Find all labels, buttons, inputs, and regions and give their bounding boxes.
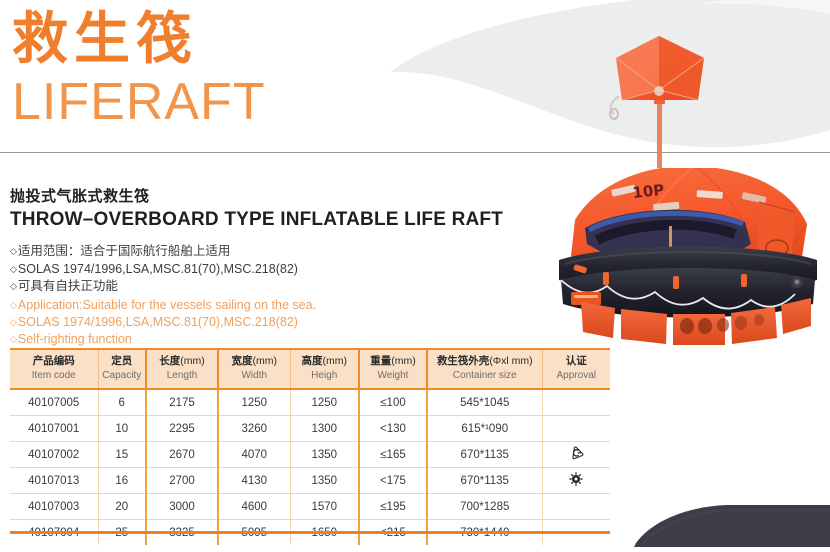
table-row: 40107001 10 2295 3260 1300 <130 615*¹090 <box>10 416 610 442</box>
cell-item-code: 40107001 <box>10 416 98 442</box>
cell-capacity: 20 <box>98 494 146 520</box>
product-heading-cn: 抛投式气胀式救生筏 <box>10 186 530 206</box>
cell-weight: ≤195 <box>359 494 427 520</box>
liferaft-photo: 10P <box>545 168 830 353</box>
table-row: 40107003 20 3000 4600 1570 ≤195 700*1285 <box>10 494 610 520</box>
feature-item: ◇ SOLAS 1974/1996,LSA,MSC.81(70),MSC.218… <box>10 314 550 331</box>
feature-text: Application:Suitable for the vessels sai… <box>18 297 316 313</box>
cell-width: 1250 <box>218 389 290 416</box>
column-header-en: Weight <box>362 369 424 382</box>
table-header-row: 产品编码 Item code 定员 Capacity 长度(mm) Length… <box>10 349 610 389</box>
feature-item: ◇ Self-righting function <box>10 331 550 348</box>
specification-table: 产品编码 Item code 定员 Capacity 长度(mm) Length… <box>10 348 610 545</box>
column-header-approval: 认证 Approval <box>542 349 610 389</box>
column-header-en: Heigh <box>293 369 357 382</box>
cell-approval <box>542 389 610 416</box>
column-header-height: 高度(mm) Heigh <box>290 349 359 389</box>
cell-approval <box>542 494 610 520</box>
cell-length: 2295 <box>146 416 218 442</box>
feature-text: SOLAS 1974/1996,LSA,MSC.81(70),MSC.218(8… <box>18 314 298 330</box>
cell-height: 1350 <box>290 442 359 468</box>
column-header-item-code: 产品编码 Item code <box>10 349 98 389</box>
cell-container-size: 615*¹090 <box>427 416 542 442</box>
column-header-en: Container size <box>430 369 540 382</box>
cert-mark-ccs-icon <box>569 446 584 460</box>
cell-capacity: 16 <box>98 468 146 494</box>
feature-item: ◇ 适用范围：适合于国际航行船舶上适用 <box>10 243 550 261</box>
cell-height: 1570 <box>290 494 359 520</box>
cell-width: 4130 <box>218 468 290 494</box>
cert-mark-gear-icon <box>569 472 583 486</box>
cell-weight: <175 <box>359 468 427 494</box>
diamond-bullet-icon: ◇ <box>10 279 17 295</box>
cell-height: 1250 <box>290 389 359 416</box>
product-heading-block: 抛投式气胀式救生筏 THROW–OVERBOARD TYPE INFLATABL… <box>10 186 530 232</box>
cell-weight: ≤165 <box>359 442 427 468</box>
masthead: 救生筏 LIFERAFT <box>12 8 432 130</box>
column-header-cn: 认证 <box>545 355 609 368</box>
column-header-en: Capacity <box>101 369 144 382</box>
cell-length: 2175 <box>146 389 218 416</box>
catalog-page: 救生筏 LIFERAFT <box>0 0 830 547</box>
table-row: 40107013 16 2700 4130 1350 <175 670*1135 <box>10 468 610 494</box>
table-row: 40107002 15 2670 4070 1350 ≤165 670*1135 <box>10 442 610 468</box>
diamond-bullet-icon: ◇ <box>10 297 17 313</box>
feature-text: Self-righting function <box>18 331 132 347</box>
cell-width: 4070 <box>218 442 290 468</box>
cell-item-code: 40107003 <box>10 494 98 520</box>
feature-text: 适用范围：适合于国际航行船舶上适用 <box>18 243 231 259</box>
cell-container-size: 670*1135 <box>427 442 542 468</box>
feature-text: 可具有自扶正功能 <box>18 278 118 294</box>
diamond-bullet-icon: ◇ <box>10 331 17 347</box>
diamond-bullet-icon: ◇ <box>10 261 17 277</box>
cell-length: 3000 <box>146 494 218 520</box>
cell-weight: <130 <box>359 416 427 442</box>
svg-text:10P: 10P <box>632 181 666 202</box>
column-header-en: Length <box>149 369 215 382</box>
column-header-cn: 高度(mm) <box>293 355 357 368</box>
specification-table-wrapper: 产品编码 Item code 定员 Capacity 长度(mm) Length… <box>10 348 610 545</box>
column-header-cn: 重量(mm) <box>362 355 424 368</box>
cell-width: 4600 <box>218 494 290 520</box>
feature-item: ◇ SOLAS 1974/1996,LSA,MSC.81(70),MSC.218… <box>10 261 550 278</box>
cell-capacity: 15 <box>98 442 146 468</box>
cell-capacity: 10 <box>98 416 146 442</box>
column-header-capacity: 定员 Capacity <box>98 349 146 389</box>
column-header-cn: 产品编码 <box>12 355 96 368</box>
column-header-weight: 重量(mm) Weight <box>359 349 427 389</box>
column-header-en: Approval <box>545 369 609 382</box>
canopy-photo <box>600 18 720 168</box>
cell-approval <box>542 442 610 468</box>
feature-text: SOLAS 1974/1996,LSA,MSC.81(70),MSC.218(8… <box>18 261 298 277</box>
cell-approval <box>542 416 610 442</box>
table-row: 40107005 6 2175 1250 1250 ≤100 545*1045 <box>10 389 610 416</box>
column-header-en: Item code <box>12 369 96 382</box>
column-header-cn: 宽度(mm) <box>221 355 288 368</box>
column-header-cn: 定员 <box>101 355 144 368</box>
cell-length: 2700 <box>146 468 218 494</box>
cell-container-size: 545*1045 <box>427 389 542 416</box>
page-title-en: LIFERAFT <box>12 74 432 130</box>
column-header-container-size: 救生筏外壳(Φxl mm) Container size <box>427 349 542 389</box>
product-feature-list: ◇ 适用范围：适合于国际航行船舶上适用 ◇ SOLAS 1974/1996,LS… <box>10 243 550 348</box>
feature-item: ◇ Application:Suitable for the vessels s… <box>10 297 550 314</box>
cell-item-code: 40107002 <box>10 442 98 468</box>
cell-height: 1300 <box>290 416 359 442</box>
column-header-cn: 救生筏外壳(Φxl mm) <box>430 355 540 368</box>
table-bottom-rule <box>10 531 610 534</box>
cell-height: 1350 <box>290 468 359 494</box>
page-title-cn: 救生筏 <box>12 8 432 72</box>
cell-weight: ≤100 <box>359 389 427 416</box>
diamond-bullet-icon: ◇ <box>10 244 17 260</box>
feature-item: ◇ 可具有自扶正功能 <box>10 278 550 296</box>
cell-width: 3260 <box>218 416 290 442</box>
column-header-en: Width <box>221 369 288 382</box>
cell-length: 2670 <box>146 442 218 468</box>
cell-container-size: 670*1135 <box>427 468 542 494</box>
cell-approval <box>542 468 610 494</box>
column-header-cn: 长度(mm) <box>149 355 215 368</box>
cell-capacity: 6 <box>98 389 146 416</box>
cell-item-code: 40107013 <box>10 468 98 494</box>
bottom-partial-photo <box>630 505 830 547</box>
column-header-width: 宽度(mm) Width <box>218 349 290 389</box>
column-header-length: 长度(mm) Length <box>146 349 218 389</box>
cell-item-code: 40107005 <box>10 389 98 416</box>
product-heading-en: THROW–OVERBOARD TYPE INFLATABLE LIFE RAF… <box>10 207 530 232</box>
diamond-bullet-icon: ◇ <box>10 314 17 330</box>
cell-container-size: 700*1285 <box>427 494 542 520</box>
